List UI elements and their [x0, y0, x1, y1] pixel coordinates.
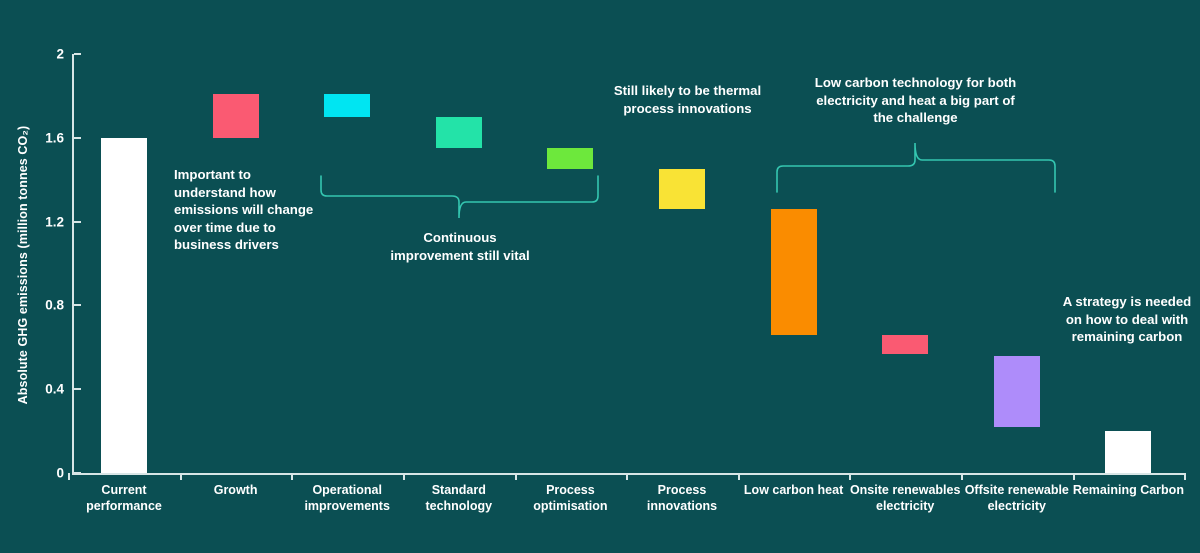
- y-axis-title: Absolute GHG emissions (million tonnes C…: [16, 100, 30, 430]
- x-axis-label: Process innovations: [623, 482, 741, 514]
- x-axis-label: Current performance: [65, 482, 183, 514]
- bar-process-innovations: [659, 169, 705, 209]
- x-axis-label: Onsite renewables electricity: [846, 482, 964, 514]
- y-axis-tick: [74, 137, 81, 139]
- bar-growth: [213, 94, 259, 138]
- annotation-growth: Important to understand how emissions wi…: [174, 166, 324, 254]
- x-axis-tick: [738, 473, 740, 480]
- y-axis-line: [72, 54, 74, 474]
- y-axis-tick-label: 0: [24, 466, 64, 481]
- bar-low-carbon-heat: [771, 209, 817, 335]
- x-axis-tick: [403, 473, 405, 480]
- bar-remaining-carbon: [1105, 431, 1151, 473]
- bar-operational-improvements: [324, 94, 370, 117]
- bracket-low-carbon-technology: [777, 143, 1055, 192]
- y-axis-tick-label: 1.2: [24, 214, 64, 229]
- x-axis-tick: [68, 473, 70, 480]
- bar-process-optimisation: [547, 148, 593, 169]
- x-axis-tick: [961, 473, 963, 480]
- x-axis-tick: [180, 473, 182, 480]
- x-axis-label: Remaining Carbon: [1069, 482, 1187, 498]
- x-axis-tick: [515, 473, 517, 480]
- annotation-remaining-carbon: A strategy is needed on how to deal with…: [1062, 293, 1192, 346]
- y-axis-tick: [74, 304, 81, 306]
- y-axis-tick-label: 0.8: [24, 298, 64, 313]
- y-axis-tick: [74, 388, 81, 390]
- bar-offsite-renewable-electricity: [994, 356, 1040, 427]
- x-axis-tick: [1184, 473, 1186, 480]
- bracket-continuous-improvement: [321, 176, 598, 218]
- x-axis-tick: [626, 473, 628, 480]
- x-axis-label: Offsite renewable electricity: [958, 482, 1076, 514]
- bar-standard-technology: [436, 117, 482, 148]
- waterfall-chart: Absolute GHG emissions (million tonnes C…: [0, 0, 1200, 553]
- y-axis-tick: [74, 221, 81, 223]
- bar-current-performance: [101, 138, 147, 473]
- y-axis-tick-label: 1.6: [24, 130, 64, 145]
- annotation-low-carbon-technology: Low carbon technology for both electrici…: [808, 74, 1023, 127]
- y-axis-tick-label: 0.4: [24, 382, 64, 397]
- annotation-thermal-process: Still likely to be thermal process innov…: [610, 82, 765, 117]
- x-axis-label: Low carbon heat: [735, 482, 853, 498]
- annotation-continuous-improvement: Continuous improvement still vital: [385, 229, 535, 264]
- x-axis-label: Operational improvements: [288, 482, 406, 514]
- x-axis-label: Standard technology: [400, 482, 518, 514]
- bar-onsite-renewables-electricity: [882, 335, 928, 354]
- x-axis-label: Process optimisation: [511, 482, 629, 514]
- x-axis-label: Growth: [177, 482, 295, 498]
- x-axis-tick: [849, 473, 851, 480]
- y-axis-tick: [74, 53, 81, 55]
- x-axis-tick: [291, 473, 293, 480]
- y-axis-tick-label: 2: [24, 47, 64, 62]
- x-axis-tick: [1073, 473, 1075, 480]
